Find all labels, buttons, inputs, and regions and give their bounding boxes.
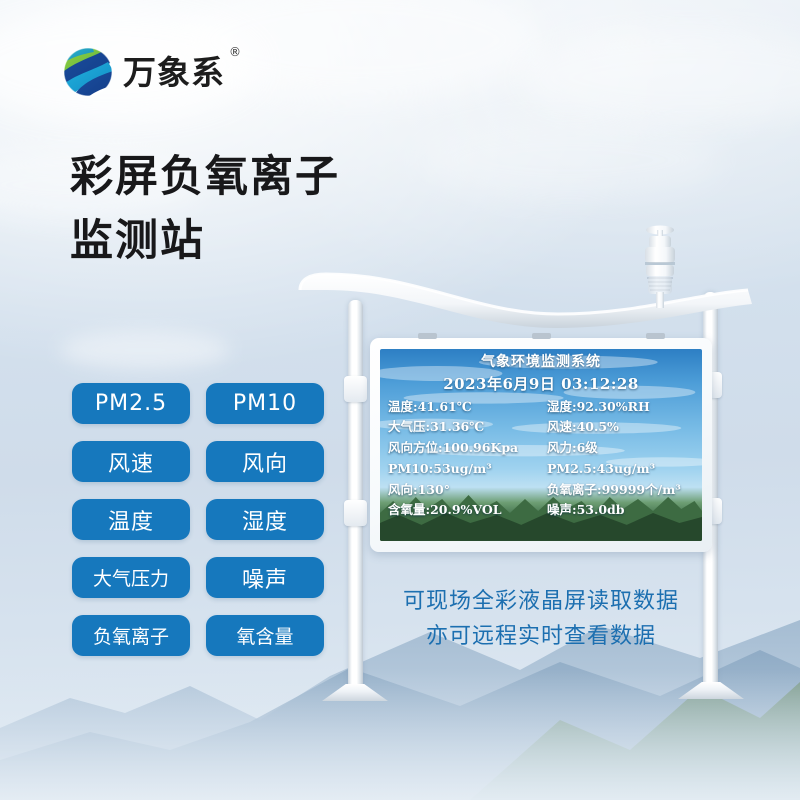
support-pole-left (348, 300, 363, 692)
feature-tag-negative-oxygen-ion[interactable]: 负氧离子 (72, 615, 190, 656)
measurement-row: 温度:41.61℃ 湿度:92.30%RH (388, 397, 694, 418)
measurement-oxygen-content: 含氧量:20.9%VOL (388, 500, 541, 521)
feature-tag-oxygen-content[interactable]: 氧含量 (206, 615, 324, 656)
feature-tag-humidity[interactable]: 湿度 (206, 499, 324, 540)
measurement-row: 风向方位:100.96Kpa 风力:6级 (388, 438, 694, 459)
measurement-wind-direction: 风向:130° (388, 480, 541, 501)
cloud-shape (520, 30, 800, 125)
measurement-air-pressure: 大气压:31.36℃ (388, 417, 541, 438)
poster-canvas: 万象系 ® 彩屏负氧离子 监测站 PM2.5 PM10 风速 风向 温度 湿度 … (0, 0, 800, 800)
feature-tag-noise[interactable]: 噪声 (206, 557, 324, 598)
measurement-row: 大气压:31.36℃ 风速:40.5% (388, 417, 694, 438)
measurement-wind-force: 风力:6级 (541, 438, 694, 459)
page-title-line-2: 监测站 (70, 210, 500, 274)
globe-swoosh-logo-icon (62, 46, 114, 98)
feature-caption-line-1: 可现场全彩液晶屏读取数据 (376, 584, 706, 619)
measurement-wind-bearing: 风向方位:100.96Kpa (388, 438, 541, 459)
panel-mount-tab (418, 333, 437, 339)
measurement-humidity: 湿度:92.30%RH (541, 397, 694, 418)
lcd-display-panel[interactable]: 气象环境监测系统 2023年6月9日 03:12:28 温度:41.61℃ 湿度… (370, 338, 712, 552)
screen-datetime: 2023年6月9日 03:12:28 (388, 373, 694, 394)
measurement-pm25: PM2.5:43ug/m³ (541, 459, 694, 480)
measurement-row: 风向:130° 负氧离子:99999个/m³ (388, 480, 694, 501)
screen-title: 气象环境监测系统 (388, 354, 694, 372)
brand-wordmark: 万象系 ® (123, 56, 225, 89)
cloud-shape (60, 330, 230, 370)
feature-tag-pm10[interactable]: PM10 (206, 383, 324, 424)
measurement-negative-oxygen-ion: 负氧离子:99999个/m³ (541, 480, 694, 501)
feature-tag-air-pressure[interactable]: 大气压力 (72, 557, 190, 598)
screen-measurement-rows: 温度:41.61℃ 湿度:92.30%RH 大气压:31.36℃ 风速:40.5… (388, 397, 694, 522)
measurement-row: 含氧量:20.9%VOL 噪声:53.0db (388, 500, 694, 521)
feature-tag-pm25[interactable]: PM2.5 (72, 383, 190, 424)
feature-tag-temperature[interactable]: 温度 (72, 499, 190, 540)
feature-tag-wind-speed[interactable]: 风速 (72, 441, 190, 482)
panel-mount-tab (532, 333, 551, 339)
brand-logo: 万象系 ® (62, 46, 225, 98)
panel-mount-clamp (344, 376, 367, 402)
lcd-screen[interactable]: 气象环境监测系统 2023年6月9日 03:12:28 温度:41.61℃ 湿度… (380, 349, 702, 541)
feature-tag-wind-direction[interactable]: 风向 (206, 441, 324, 482)
measurement-noise: 噪声:53.0db (541, 500, 694, 521)
screen-readout: 气象环境监测系统 2023年6月9日 03:12:28 温度:41.61℃ 湿度… (380, 349, 702, 541)
measurement-row: PM10:53ug/m³ PM2.5:43ug/m³ (388, 459, 694, 480)
page-title: 彩屏负氧离子 监测站 (70, 146, 500, 273)
registered-mark: ® (229, 46, 242, 58)
measurement-temperature: 温度:41.61℃ (388, 397, 541, 418)
brand-wordmark-text: 万象系 (123, 53, 225, 92)
weather-sensor-shield-icon (632, 222, 688, 308)
feature-caption-line-2: 亦可远程实时查看数据 (376, 619, 706, 654)
measurement-pm10: PM10:53ug/m³ (388, 459, 541, 480)
measurement-wind-speed: 风速:40.5% (541, 417, 694, 438)
page-title-line-1: 彩屏负氧离子 (70, 146, 500, 210)
panel-mount-tab (646, 333, 665, 339)
feature-caption: 可现场全彩液晶屏读取数据 亦可远程实时查看数据 (376, 584, 706, 654)
feature-tag-grid: PM2.5 PM10 风速 风向 温度 湿度 大气压力 噪声 负氧离子 氧含量 (72, 383, 324, 656)
panel-mount-clamp (344, 500, 367, 526)
